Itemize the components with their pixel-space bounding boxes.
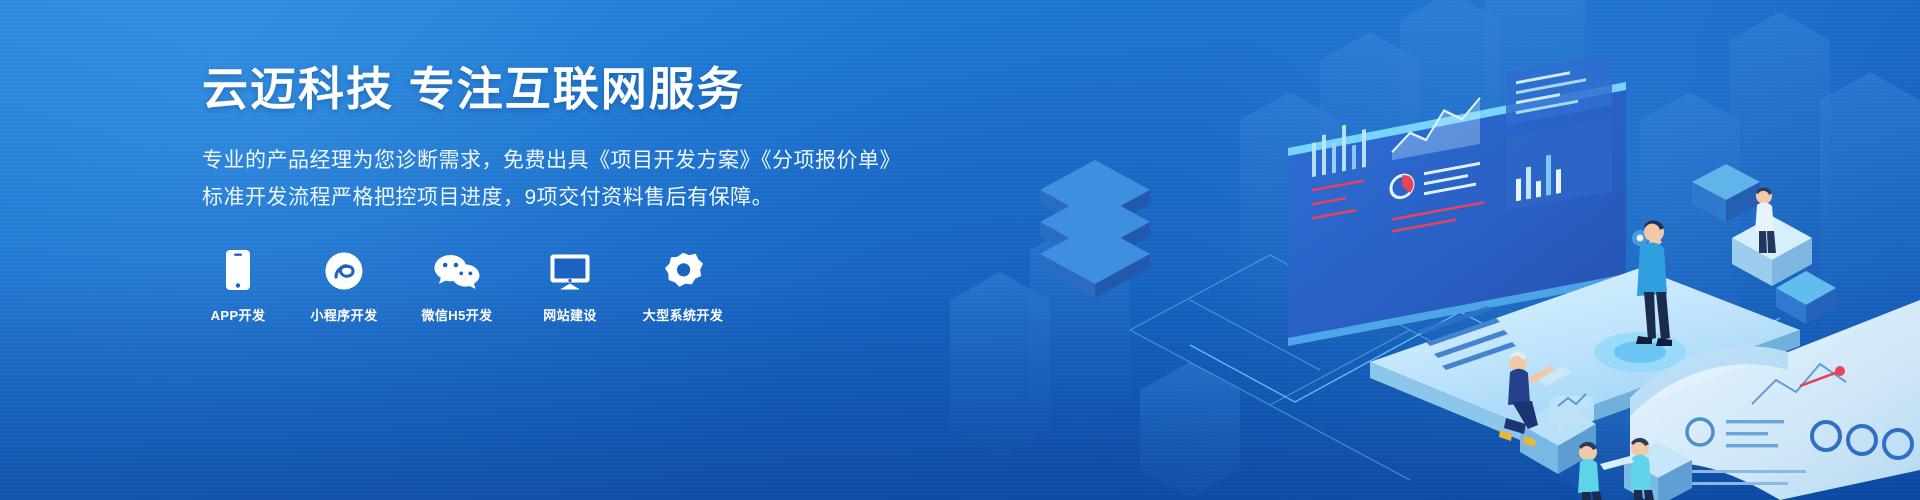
gear-icon xyxy=(663,249,703,291)
service-item-large-system[interactable]: 大型系统开发 xyxy=(640,249,726,324)
wechat-icon xyxy=(433,249,481,291)
background-glow-right xyxy=(1020,0,1920,500)
service-label-website: 网站建设 xyxy=(543,305,597,324)
subtitle-line-1: 专业的产品经理为您诊断需求，免费出具《项目开发方案》《分项报价单》 xyxy=(202,143,942,180)
illus-accent-path xyxy=(1190,312,1780,402)
service-label-large-system: 大型系统开发 xyxy=(643,305,723,324)
banner-subtitle: 专业的产品经理为您诊断需求，免费出具《项目开发方案》《分项报价单》 标准开发流程… xyxy=(202,143,942,217)
banner-headline: 云迈科技 专注互联网服务 xyxy=(202,62,942,117)
illus-person-on-block xyxy=(1755,188,1776,253)
illus-side-blocks xyxy=(1520,164,1836,500)
illus-grid-lines xyxy=(1130,255,1560,480)
illus-tablet-platform xyxy=(1370,268,1800,444)
mini-program-icon xyxy=(324,249,364,291)
illus-person-pointing xyxy=(1636,220,1672,346)
illus-server-stack xyxy=(1040,160,1150,298)
banner-content: 云迈科技 专注互联网服务 专业的产品经理为您诊断需求，免费出具《项目开发方案》《… xyxy=(202,62,942,324)
illus-data-ribbon xyxy=(1630,300,1920,500)
illus-person-sitting-laptop xyxy=(1499,352,1572,447)
service-item-app[interactable]: APP开发 xyxy=(202,249,274,324)
mobile-phone-icon xyxy=(225,249,251,291)
illus-dashboard-screen xyxy=(1280,53,1648,346)
service-list: APP开发 小程序开发 xyxy=(202,249,942,324)
service-item-wechat-h5[interactable]: 微信H5开发 xyxy=(414,249,500,324)
service-label-mini-program: 小程序开发 xyxy=(310,305,377,324)
monitor-icon xyxy=(549,249,591,291)
service-label-app: APP开发 xyxy=(211,305,266,324)
hero-illustration xyxy=(940,0,1920,500)
service-label-wechat-h5: 微信H5开发 xyxy=(421,305,492,324)
illus-chat-bubbles xyxy=(1550,394,1594,432)
illus-person-pair xyxy=(1578,438,1654,500)
subtitle-line-2: 标准开发流程严格把控项目进度，9项交付资料售后有保障。 xyxy=(202,180,942,217)
service-item-mini-program[interactable]: 小程序开发 xyxy=(308,249,380,324)
illus-city-buildings xyxy=(950,0,1920,500)
hero-banner: 云迈科技 专注互联网服务 专业的产品经理为您诊断需求，免费出具《项目开发方案》《… xyxy=(0,0,1920,500)
service-item-website[interactable]: 网站建设 xyxy=(534,249,606,324)
